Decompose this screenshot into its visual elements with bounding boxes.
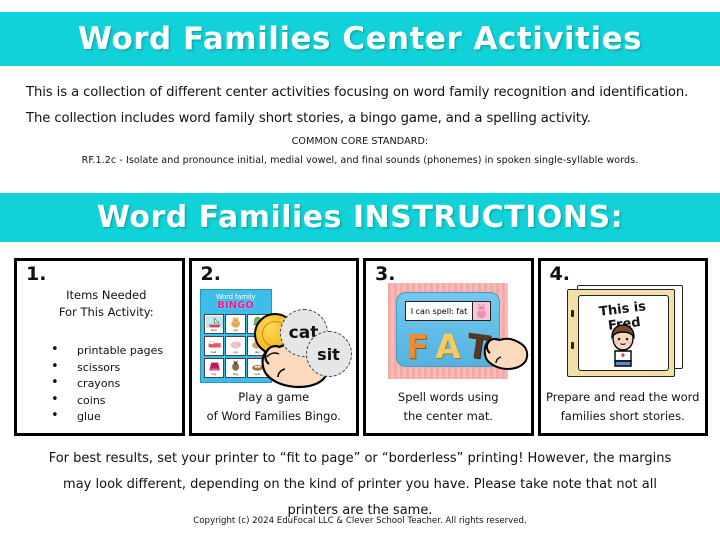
bingo-word: boat (205, 328, 223, 333)
binding-mark (571, 342, 574, 349)
bingo-word: rug (205, 372, 223, 378)
bingo-word: bed (205, 350, 223, 355)
items-needed-line1: Items Needed (31, 287, 182, 304)
list-item: crayons (51, 376, 163, 393)
card-caption: Spell words using the center mat. (370, 388, 527, 426)
bingo-word: pig (226, 350, 244, 355)
instructions-banner: Word Families INSTRUCTIONS: (0, 193, 720, 242)
card-number: 3. (375, 263, 395, 285)
card-caption-line2: of Word Families Bingo. (196, 407, 353, 426)
bingo-word: bug (226, 372, 244, 378)
common-core-text: RF.1.2c - Isolate and pronounce initial,… (0, 155, 720, 166)
instruction-card-1: 1. Items Needed For This Activity: print… (14, 258, 185, 436)
printer-note: For best results, set your printer to “f… (40, 446, 680, 524)
instructions-title: Word Families INSTRUCTIONS: (97, 200, 623, 235)
boy-character-icon (603, 322, 643, 368)
card-caption-line1: Play a game (196, 388, 353, 407)
bingo-footer-credit (235, 379, 236, 382)
card-caption-line2: families short stories. (545, 407, 702, 426)
pig-icon (227, 338, 244, 350)
card-caption-line1: Prepare and read the word (545, 388, 702, 407)
card-caption-line2: the center mat. (370, 407, 527, 426)
common-core-label: COMMON CORE STANDARD: (0, 136, 720, 147)
bingo-cell: rug (204, 358, 224, 378)
cat-icon (473, 302, 490, 320)
bingo-cell: bug (225, 358, 245, 378)
list-item: scissors (51, 360, 163, 377)
bingo-illustration: Word family BINGO boat (198, 287, 350, 385)
word-bubble-sit: sit (306, 331, 352, 377)
book-page: This is Fred (578, 295, 669, 371)
card-number: 4. (550, 263, 570, 285)
instruction-card-2: 2. Word family BINGO boat (189, 258, 360, 436)
bingo-cell: bed (204, 336, 224, 356)
rug-icon (206, 360, 223, 372)
cat-icon (227, 316, 244, 328)
instruction-card-4: 4. This is Fred (538, 258, 709, 436)
items-needed-line2: For This Activity: (31, 304, 182, 321)
cat-picture-icon (472, 302, 490, 320)
mat-label-text: I can spell: fat (406, 307, 472, 316)
list-item: glue (51, 409, 163, 426)
mat-label: I can spell: fat (405, 301, 491, 321)
card-number: 2. (201, 263, 221, 285)
spelling-mat-illustration: I can spell: fat F A T (388, 283, 508, 379)
storybook-illustration: This is Fred (567, 285, 683, 377)
binding-mark (571, 310, 574, 317)
mat-tray: I can spell: fat F A T (396, 292, 500, 367)
book-front-cover: This is Fred (567, 289, 675, 377)
activity-page: Word Families Center Activities This is … (0, 0, 720, 540)
intro-paragraph: This is a collection of different center… (26, 80, 694, 132)
items-needed-list: printable pages scissors crayons coins g… (51, 343, 163, 426)
card-caption-line1: Spell words using (370, 388, 527, 407)
bingo-word: cat (226, 328, 244, 333)
bed-icon (206, 338, 223, 350)
page-title-banner: Word Families Center Activities (0, 12, 720, 66)
list-item: printable pages (51, 343, 163, 360)
letter-tile: F (406, 330, 429, 363)
pointing-hand-illustration (475, 323, 533, 379)
instruction-card-3: 3. I can spell: fat (363, 258, 534, 436)
boat-icon (206, 316, 223, 328)
copyright-text: Copyright (c) 2024 EduFocal LLC & Clever… (0, 516, 720, 526)
bingo-cell: boat (204, 314, 224, 334)
instruction-cards: 1. Items Needed For This Activity: print… (14, 258, 708, 436)
bug-icon (227, 360, 244, 372)
bingo-title-line2: BINGO (217, 301, 253, 311)
common-core-block: COMMON CORE STANDARD: RF.1.2c - Isolate … (0, 136, 720, 166)
card-caption: Play a game of Word Families Bingo. (196, 388, 353, 426)
bingo-cell: pig (225, 336, 245, 356)
card-caption: Prepare and read the word families short… (545, 388, 702, 426)
letter-tile: A (435, 330, 461, 363)
bingo-cell: cat (225, 314, 245, 334)
items-needed-heading: Items Needed For This Activity: (17, 287, 182, 321)
card-number: 1. (26, 263, 46, 285)
list-item: coins (51, 393, 163, 410)
page-title: Word Families Center Activities (78, 21, 642, 57)
